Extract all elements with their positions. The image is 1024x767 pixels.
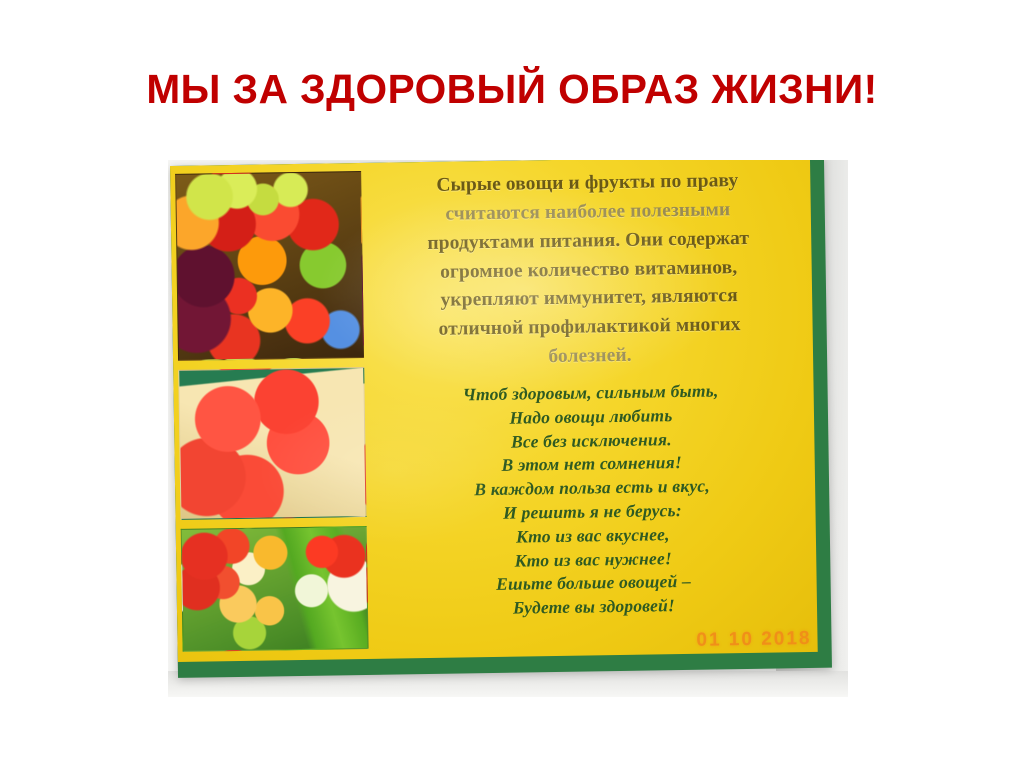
health-poster: Сырые овощи и фрукты по праву считаются … xyxy=(170,160,832,678)
poster-photo-column xyxy=(170,163,378,662)
slide-title: МЫ ЗА ЗДОРОВЫЙ ОБРАЗ ЖИЗНИ! xyxy=(5,68,1019,111)
poster-inner: Сырые овощи и фрукты по праву считаются … xyxy=(170,160,818,662)
camera-date-stamp: 01 10 2018 xyxy=(696,628,811,652)
poster-poem: Чтоб здоровым, сильным быть, Надо овощи … xyxy=(385,378,799,622)
poster-photograph: Сырые овощи и фрукты по праву считаются … xyxy=(168,160,848,697)
poster-prose: Сырые овощи и фрукты по праву считаются … xyxy=(382,166,795,374)
tomatoes-photo xyxy=(178,367,366,519)
poster-text-column: Сырые овощи и фрукты по праву считаются … xyxy=(370,160,818,659)
vegetables-photo xyxy=(181,526,369,652)
mixed-fruit-photo xyxy=(175,171,364,361)
poem-line: Будете вы здоровей! xyxy=(389,592,799,622)
